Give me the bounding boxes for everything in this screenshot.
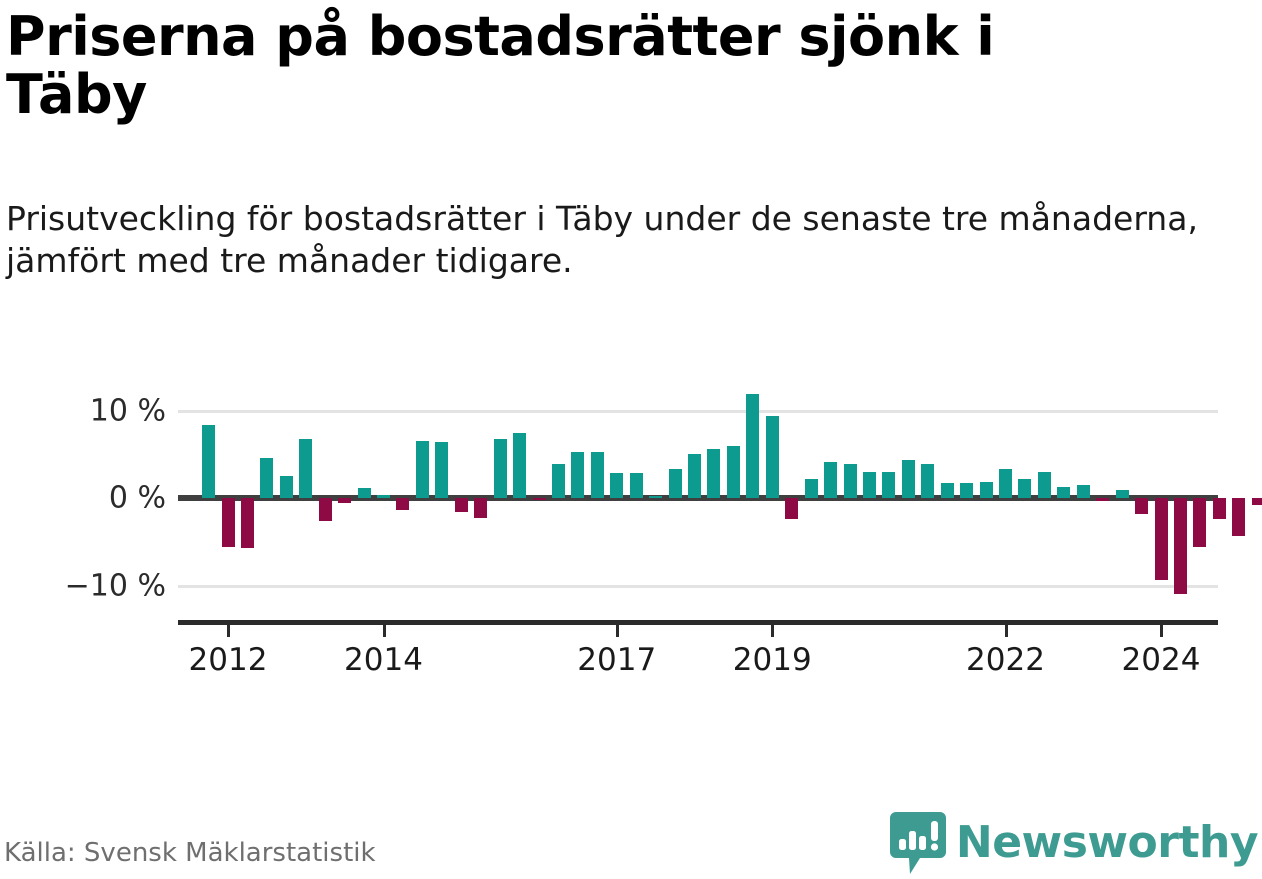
x-tick-label: 2019 (733, 642, 812, 678)
source-caption: Källa: Svensk Mäklarstatistik (4, 838, 376, 868)
logo-wordmark: Newsworthy (956, 821, 1258, 865)
bar (1116, 490, 1129, 499)
x-tick-label: 2012 (189, 642, 268, 678)
bar (805, 479, 818, 498)
x-tick (227, 625, 230, 637)
x-tick-label: 2014 (344, 642, 423, 678)
bar (921, 464, 934, 498)
gridline (178, 585, 1218, 588)
bar (1174, 498, 1187, 594)
newsworthy-logo: Newsworthy (890, 812, 1258, 874)
bar (1213, 498, 1226, 519)
bar (941, 483, 954, 498)
bar (824, 462, 837, 499)
bar (960, 483, 973, 499)
bar (766, 416, 779, 498)
bar (260, 458, 273, 498)
bar (1135, 498, 1148, 514)
bar (1057, 487, 1070, 498)
chart-page: Priserna på bostadsrätter sjönk i Täby P… (0, 0, 1262, 879)
bar (338, 498, 351, 502)
bar (474, 498, 487, 517)
bar (571, 452, 584, 498)
y-tick-label: −10 % (6, 569, 166, 604)
x-tick-label: 2022 (966, 642, 1045, 678)
bar (513, 433, 526, 499)
bar (902, 460, 915, 499)
y-tick-label: 0 % (6, 481, 166, 516)
bar (455, 498, 468, 511)
bar (688, 454, 701, 499)
bar-chart: 10 %0 %−10 %201220142017201920222024−2 % (0, 360, 1262, 700)
bar (377, 495, 390, 499)
bar (649, 496, 662, 499)
x-tick (1005, 625, 1008, 637)
bar (980, 482, 993, 499)
bar (746, 394, 759, 498)
bar (1018, 479, 1031, 498)
x-tick (771, 625, 774, 637)
bar (1193, 498, 1206, 547)
bar (882, 472, 895, 498)
bar (1155, 498, 1168, 580)
bar (727, 446, 740, 499)
page-title: Priserna på bostadsrätter sjönk i Täby (6, 8, 1146, 125)
bar (669, 469, 682, 498)
bar (552, 464, 565, 498)
bar (202, 425, 215, 499)
x-axis-line (178, 620, 1218, 625)
bar (844, 464, 857, 498)
gridline (178, 410, 1218, 413)
bar (319, 498, 332, 521)
bar (999, 469, 1012, 499)
bar (591, 452, 604, 498)
bar (1232, 498, 1245, 536)
bar (358, 488, 371, 499)
bar (863, 472, 876, 498)
bar (435, 442, 448, 498)
bar (222, 498, 235, 547)
x-tick (616, 625, 619, 637)
bar (241, 498, 254, 548)
x-tick-label: 2024 (1122, 642, 1201, 678)
page-subtitle: Prisutveckling för bostadsrätter i Täby … (6, 198, 1231, 282)
x-tick-label: 2017 (577, 642, 656, 678)
bar (1096, 498, 1109, 501)
bar (416, 441, 429, 498)
bar (396, 498, 409, 509)
bar (280, 476, 293, 498)
bar (630, 473, 643, 498)
plot-area (178, 380, 1218, 628)
bar (1077, 485, 1090, 498)
speech-bubble-bar-chart-icon (890, 812, 946, 874)
bar (533, 498, 546, 500)
bar (785, 498, 798, 518)
bar (494, 439, 507, 499)
x-tick (383, 625, 386, 637)
bar (1038, 472, 1051, 498)
y-tick-label: 10 % (6, 393, 166, 428)
bar (1252, 498, 1262, 505)
bar (707, 449, 720, 498)
bar (610, 473, 623, 498)
bar (299, 439, 312, 499)
x-tick (1160, 625, 1163, 637)
